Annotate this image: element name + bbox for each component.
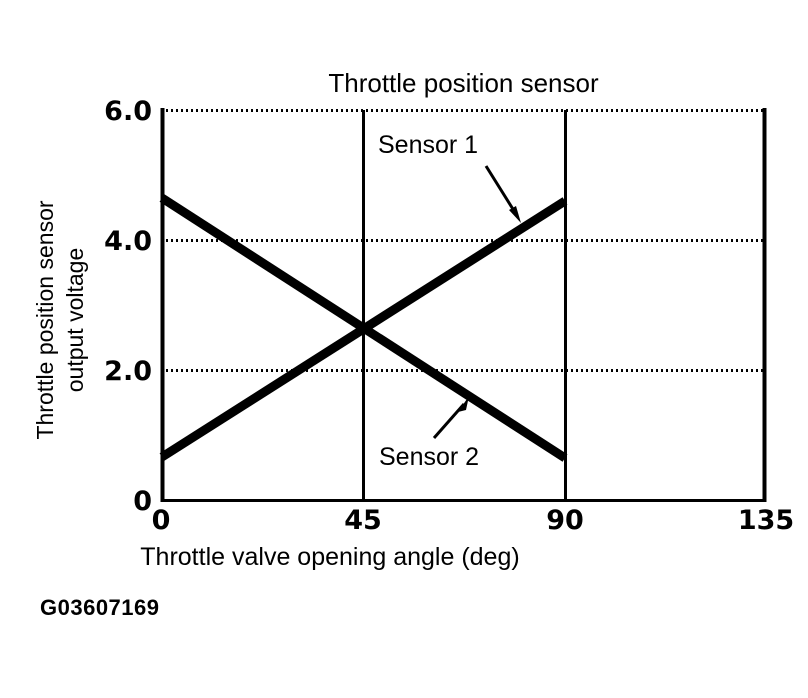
x-axis-label: Throttle valve opening angle (deg)	[40, 543, 620, 572]
annotation-sensor-2: Sensor 2	[379, 443, 479, 472]
figure-caption-id: G03607169	[40, 595, 160, 621]
plot-area	[0, 0, 808, 698]
sensor-2-arrow	[434, 396, 469, 438]
horizontal-gridlines	[161, 111, 766, 501]
chart-figure: Throttle position sensor Throttle positi…	[0, 0, 808, 698]
annotation-sensor-1: Sensor 1	[378, 131, 478, 160]
sensor-1-arrow	[486, 166, 521, 223]
